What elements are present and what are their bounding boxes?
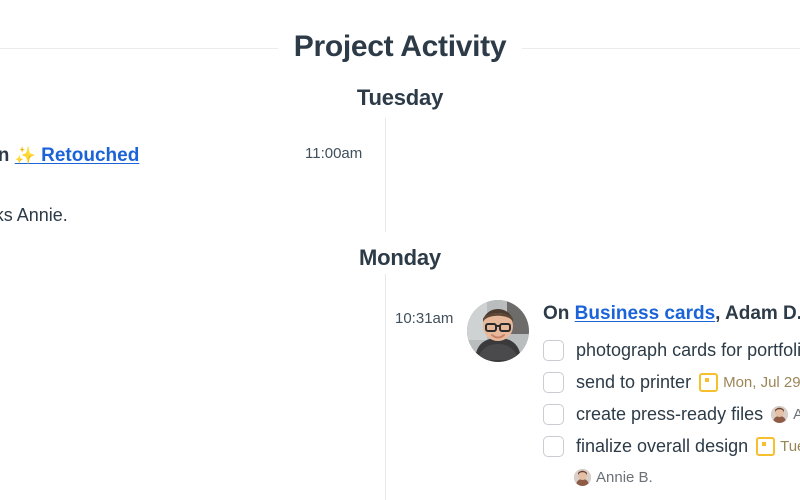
sparkles-icon: ✨ bbox=[15, 146, 36, 165]
activity-headline-prefix: On bbox=[543, 303, 575, 324]
page-title: Project Activity bbox=[0, 24, 800, 70]
task-checkbox[interactable] bbox=[543, 372, 564, 393]
task-label: photograph cards for portfolio bbox=[576, 340, 800, 361]
task-due-date-chip[interactable]: Mon, Jul 29 bbox=[699, 373, 800, 392]
avatar[interactable] bbox=[467, 300, 529, 362]
task-assignee-chip[interactable]: Ann bbox=[771, 406, 800, 423]
day-heading-monday: Monday bbox=[0, 245, 800, 271]
task-due-date-text: Mon, Jul 29 bbox=[723, 374, 800, 391]
task-assignee-name: Annie B. bbox=[596, 469, 653, 486]
assignee-avatar bbox=[574, 469, 591, 486]
task-label: create press-ready files bbox=[576, 404, 763, 425]
task-list: photograph cards for portfolio send to p… bbox=[543, 334, 800, 492]
task-assignee-row[interactable]: Annie B. bbox=[543, 462, 800, 492]
project-activity-page: Project Activity Tuesday or commented on… bbox=[0, 0, 800, 500]
task-due-date-text: Tue, J bbox=[780, 438, 800, 455]
task-row[interactable]: create press-ready files bbox=[543, 398, 800, 430]
activity-link-line1-text: Retouched bbox=[41, 145, 139, 166]
activity-timestamp-left: 11:00am bbox=[305, 145, 362, 162]
day-heading-tuesday: Tuesday bbox=[0, 85, 800, 111]
task-checkbox[interactable] bbox=[543, 436, 564, 457]
calendar-icon bbox=[699, 373, 718, 392]
task-due-date-chip[interactable]: Tue, J bbox=[756, 437, 800, 456]
activity-entry-left-body: or commented on ✨ Retouched n photos e l… bbox=[0, 142, 290, 230]
timeline-spine bbox=[385, 118, 386, 500]
activity-headline-line1: or commented on ✨ Retouched bbox=[0, 142, 290, 170]
activity-link-line1[interactable]: ✨ Retouched bbox=[15, 145, 140, 166]
task-label: finalize overall design bbox=[576, 436, 748, 457]
activity-comment-text: e look great! Thanks Annie. bbox=[0, 200, 290, 230]
task-checkbox[interactable] bbox=[543, 404, 564, 425]
task-label: send to printer bbox=[576, 372, 691, 393]
activity-timestamp-right: 10:31am bbox=[395, 310, 453, 327]
calendar-icon bbox=[756, 437, 775, 456]
activity-headline: On Business cards, Adam D. a bbox=[543, 300, 800, 328]
page-title-text: Project Activity bbox=[278, 30, 523, 63]
activity-headline-suffix: , Adam D. a bbox=[715, 303, 800, 324]
task-row[interactable]: send to printer Mon, Jul 29 bbox=[543, 366, 800, 398]
activity-headline-prefix: or commented on bbox=[0, 145, 15, 166]
task-row[interactable]: finalize overall design Tue, J bbox=[543, 430, 800, 462]
activity-headline-line2: n photos bbox=[0, 170, 290, 198]
task-checkbox[interactable] bbox=[543, 340, 564, 361]
assignee-avatar bbox=[771, 406, 788, 423]
task-assignee-text: Ann bbox=[793, 406, 800, 423]
page-header: Project Activity bbox=[0, 24, 800, 70]
activity-project-link[interactable]: Business cards bbox=[575, 303, 715, 324]
activity-entry-right-body: On Business cards, Adam D. a photograph … bbox=[543, 300, 800, 492]
task-row[interactable]: photograph cards for portfolio bbox=[543, 334, 800, 366]
